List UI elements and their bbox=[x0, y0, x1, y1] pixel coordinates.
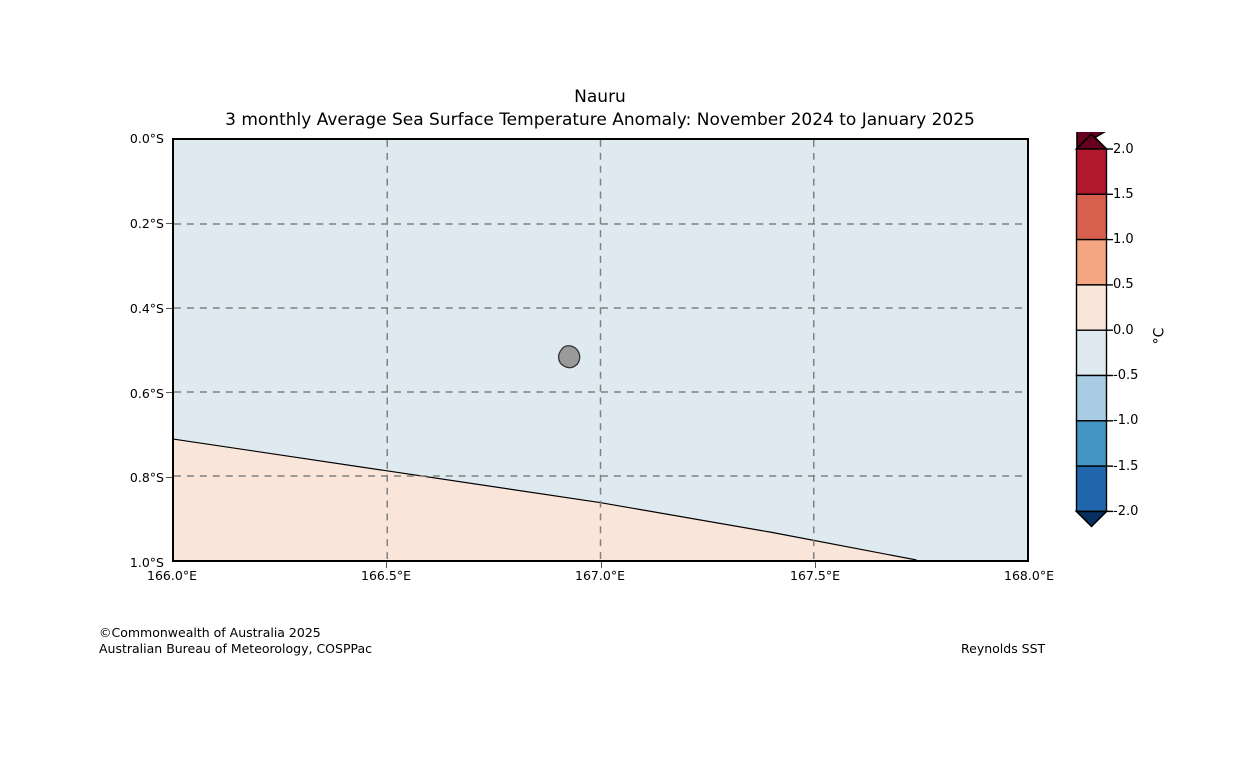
colorbar-band-4 bbox=[1077, 285, 1107, 330]
colorbar-band-7 bbox=[1077, 421, 1107, 466]
colorbar-band-1 bbox=[1077, 149, 1107, 194]
colorbar-band-2 bbox=[1077, 194, 1107, 239]
footer-data-source: Reynolds SST bbox=[961, 641, 1045, 657]
colorbar-tick-label-2: 1.0 bbox=[1113, 233, 1134, 246]
y-tickmark-1 bbox=[166, 223, 172, 224]
colorbar-tick-label-4: 0.0 bbox=[1113, 324, 1134, 337]
y-tick-label-4: 0.8°S bbox=[0, 470, 164, 485]
y-tick-label-0: 0.0°S bbox=[0, 131, 164, 146]
y-tick-label-1: 0.2°S bbox=[0, 216, 164, 231]
colorbar-tick-label-0: 2.0 bbox=[1113, 143, 1134, 156]
colorbar-unit-label: °C bbox=[1151, 328, 1167, 345]
x-tickmark-2 bbox=[601, 562, 602, 568]
y-tickmark-3 bbox=[166, 392, 172, 393]
map-plot-area bbox=[172, 138, 1029, 562]
colorbar-tick-label-6: -1.0 bbox=[1113, 414, 1138, 427]
colorbar-band-5 bbox=[1077, 330, 1107, 375]
footer-copyright: ©Commonwealth of Australia 2025 bbox=[99, 625, 372, 641]
x-tick-label-1: 166.5°E bbox=[326, 568, 446, 583]
nauru-island bbox=[559, 346, 580, 368]
colorbar-extend-min-arrow bbox=[1077, 511, 1107, 526]
y-tickmark-4 bbox=[166, 477, 172, 478]
footer-attribution: ©Commonwealth of Australia 2025 Australi… bbox=[99, 625, 372, 657]
x-tickmark-1 bbox=[386, 562, 387, 568]
x-tick-label-4: 168.0°E bbox=[969, 568, 1089, 583]
colorbar-tick-label-5: -0.5 bbox=[1113, 369, 1138, 382]
x-tickmark-3 bbox=[815, 562, 816, 568]
page-title: Nauru bbox=[0, 86, 1200, 108]
colorbar-band-6 bbox=[1077, 376, 1107, 421]
x-tick-label-3: 167.5°E bbox=[755, 568, 875, 583]
x-tick-label-2: 167.0°E bbox=[540, 568, 660, 583]
colorbar: 2.0 1.5 1.0 0.5 0.0 -0.5 -1.0 -1.5 -2.0 … bbox=[1073, 132, 1183, 568]
chart-subtitle: 3 monthly Average Sea Surface Temperatur… bbox=[0, 108, 1200, 132]
x-tick-label-0: 166.0°E bbox=[112, 568, 232, 583]
colorbar-tick-label-3: 0.5 bbox=[1113, 278, 1134, 291]
sst-anomaly-raster bbox=[174, 140, 1027, 560]
colorbar-band-3 bbox=[1077, 240, 1107, 285]
colorbar-tick-label-7: -1.5 bbox=[1113, 460, 1138, 473]
colorbar-band-8 bbox=[1077, 466, 1107, 511]
y-tick-label-2: 0.4°S bbox=[0, 301, 164, 316]
chart-title-block: Nauru 3 monthly Average Sea Surface Temp… bbox=[0, 86, 1200, 132]
footer-agency: Australian Bureau of Meteorology, COSPPa… bbox=[99, 641, 372, 657]
y-tick-label-3: 0.6°S bbox=[0, 386, 164, 401]
colorbar-tick-label-1: 1.5 bbox=[1113, 188, 1134, 201]
colorbar-tick-label-8: -2.0 bbox=[1113, 505, 1138, 518]
y-tickmark-2 bbox=[166, 308, 172, 309]
